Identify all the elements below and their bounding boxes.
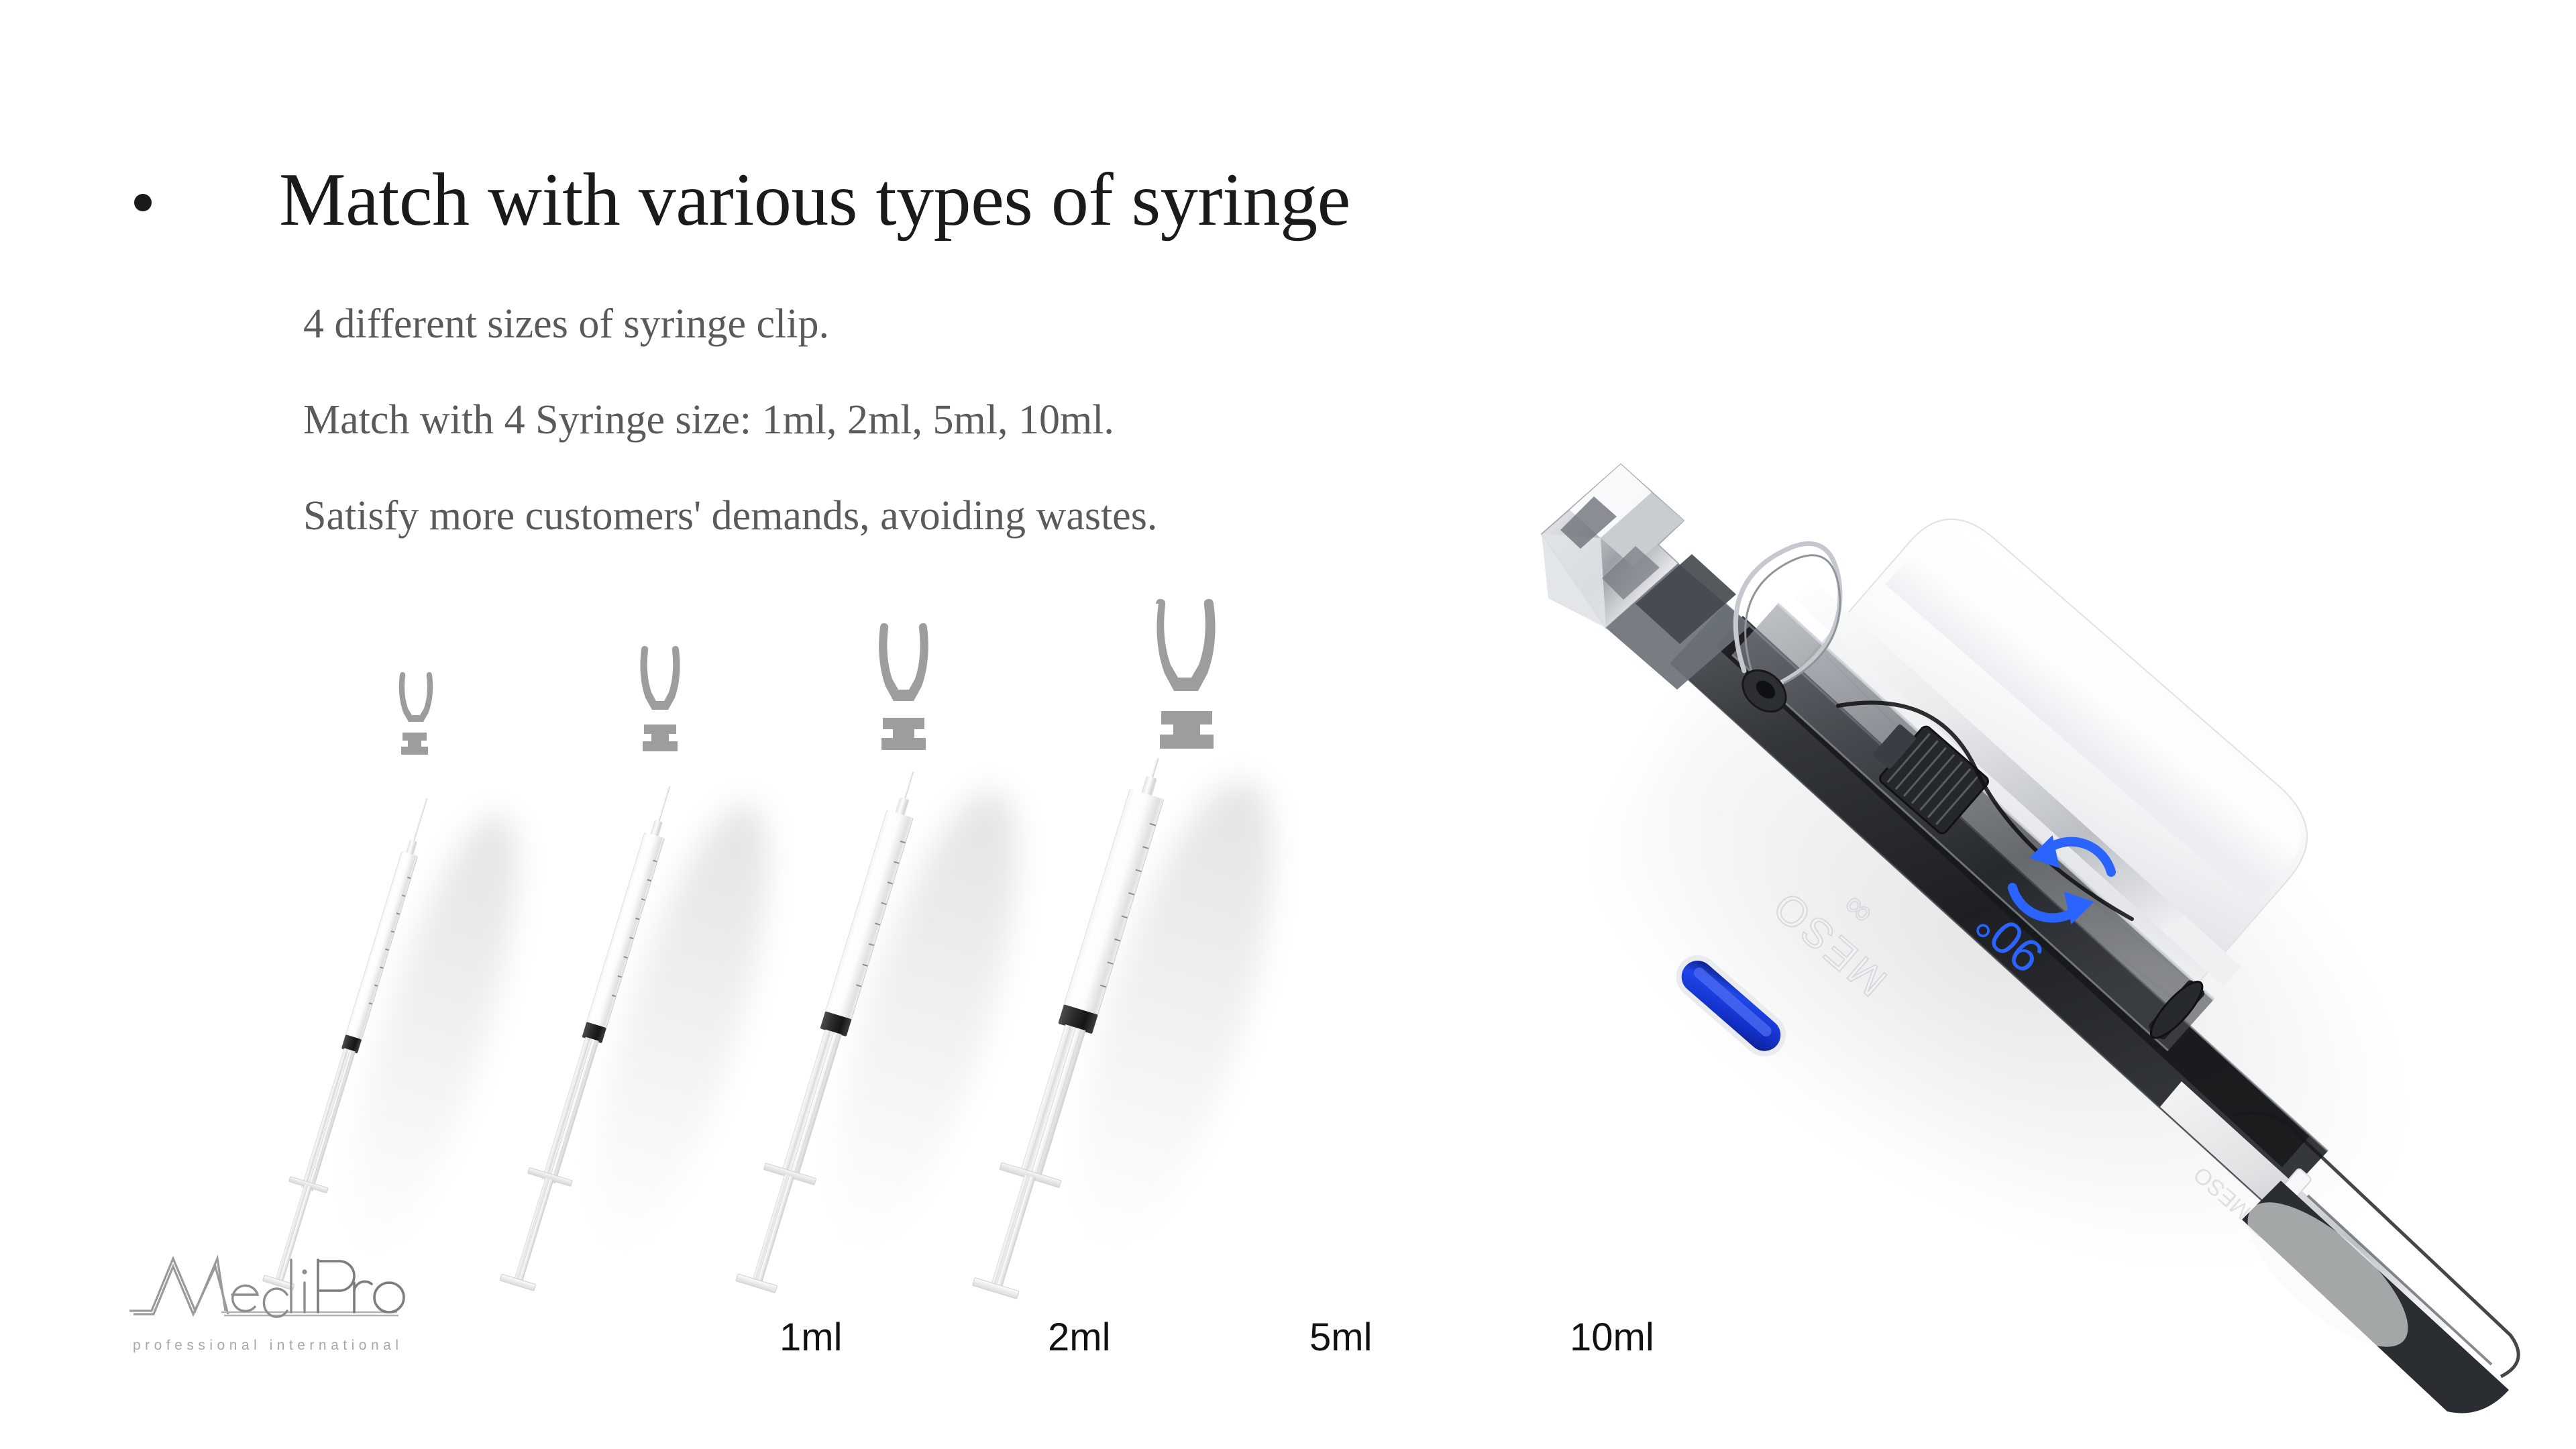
syringe-product-group: 1ml 2ml 5ml 10ml <box>0 0 1610 1449</box>
syringe-clip-icon-1ml <box>390 671 439 758</box>
syringe-plunger-rod <box>781 1029 842 1179</box>
syringe-clip-icon-5ml <box>865 623 943 758</box>
syringe-plunger-rod-lower <box>514 1177 553 1283</box>
medipro-wordmark-icon <box>126 1253 408 1347</box>
device-brand-embossed: MESO ∞ <box>1762 851 1922 1005</box>
size-label-2ml: 2ml <box>1048 1315 1110 1360</box>
syringe-needle <box>903 771 914 802</box>
led-indicator <box>1668 947 1795 1065</box>
slide-canvas: Match with various types of syringe 4 di… <box>0 0 2576 1449</box>
syringe-needle <box>412 798 427 844</box>
syringe-plunger-rod <box>301 1048 356 1191</box>
logo-tagline: professional international <box>133 1338 402 1354</box>
syringe-plunger-rod-lower <box>991 1175 1036 1288</box>
syringe-needle <box>657 786 671 824</box>
syringe-plunger-rod <box>1019 1024 1085 1181</box>
device-illustration: MESO ∞ 90° <box>1462 402 2576 1449</box>
syringe-plunger-rod-lower <box>752 1174 794 1283</box>
medipro-logo: professional international <box>126 1253 408 1360</box>
size-label-5ml: 5ml <box>1309 1315 1372 1360</box>
size-label-1ml: 1ml <box>780 1315 842 1360</box>
syringe-plunger-rod <box>542 1037 599 1183</box>
syringe-clip-icon-2ml <box>629 645 691 758</box>
syringe-clip-icon-10ml <box>1140 598 1234 758</box>
meso-injector-device: MESO ∞ 90° <box>1462 402 2576 1449</box>
